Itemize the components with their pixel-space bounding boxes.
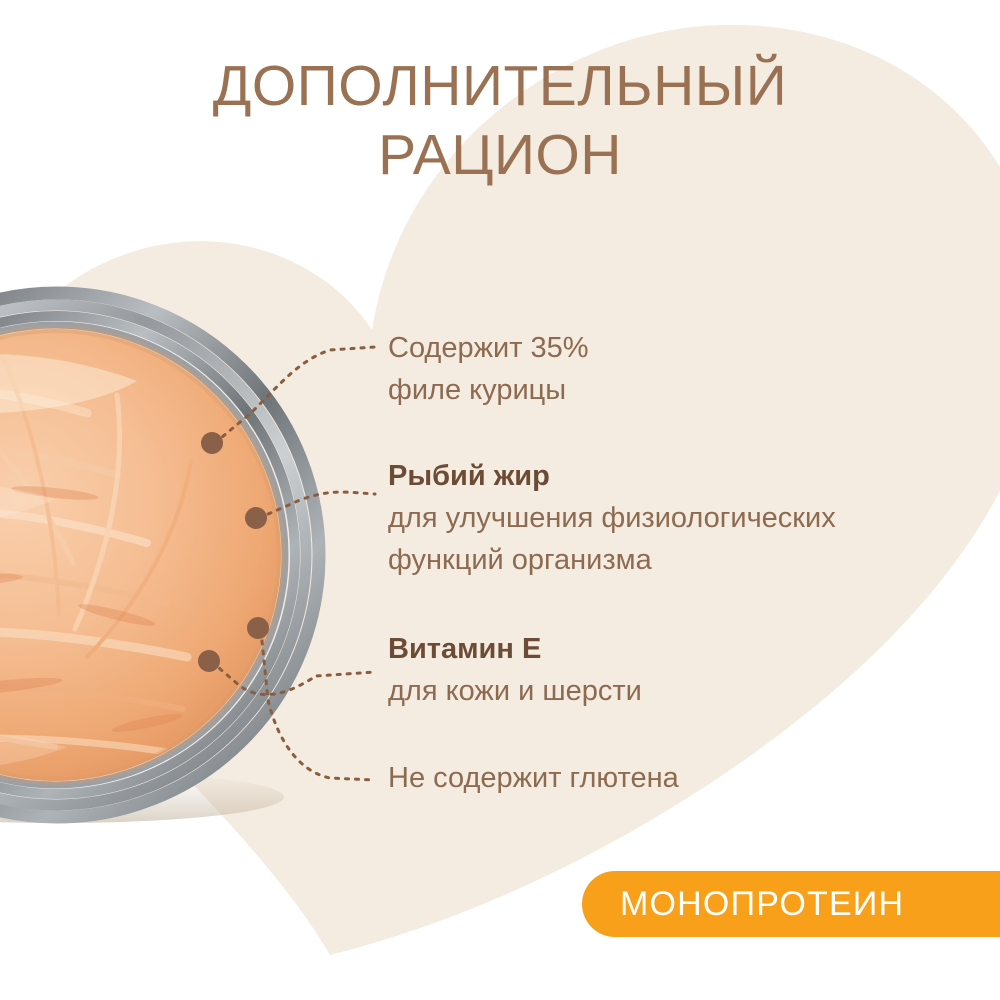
feature-head-2: Витамин Е xyxy=(388,628,642,670)
feature-body-0: Содержит 35% филе курицы xyxy=(388,327,589,411)
feature-body-1: для улучшения физиологических функций ор… xyxy=(388,497,836,581)
product-photo-can xyxy=(0,285,327,825)
badge-label: Монопротеин xyxy=(620,887,904,921)
feature-item-2: Витамин Е для кожи и шерсти xyxy=(388,628,642,712)
feature-head-1: Рыбий жир xyxy=(388,455,836,497)
promo-banner: Дополнительный рацион xyxy=(0,0,1000,1000)
feature-item-0: Содержит 35% филе курицы xyxy=(388,327,589,411)
feature-body-2: для кожи и шерсти xyxy=(388,670,642,712)
feature-item-3: Не содержит глютена xyxy=(388,757,679,799)
status-badge-monoprotein: Монопротеин xyxy=(582,871,1000,937)
feature-item-1: Рыбий жир для улучшения физиологических … xyxy=(388,455,836,581)
feature-body-3: Не содержит глютена xyxy=(388,757,679,799)
page-title: Дополнительный рацион xyxy=(120,52,880,190)
